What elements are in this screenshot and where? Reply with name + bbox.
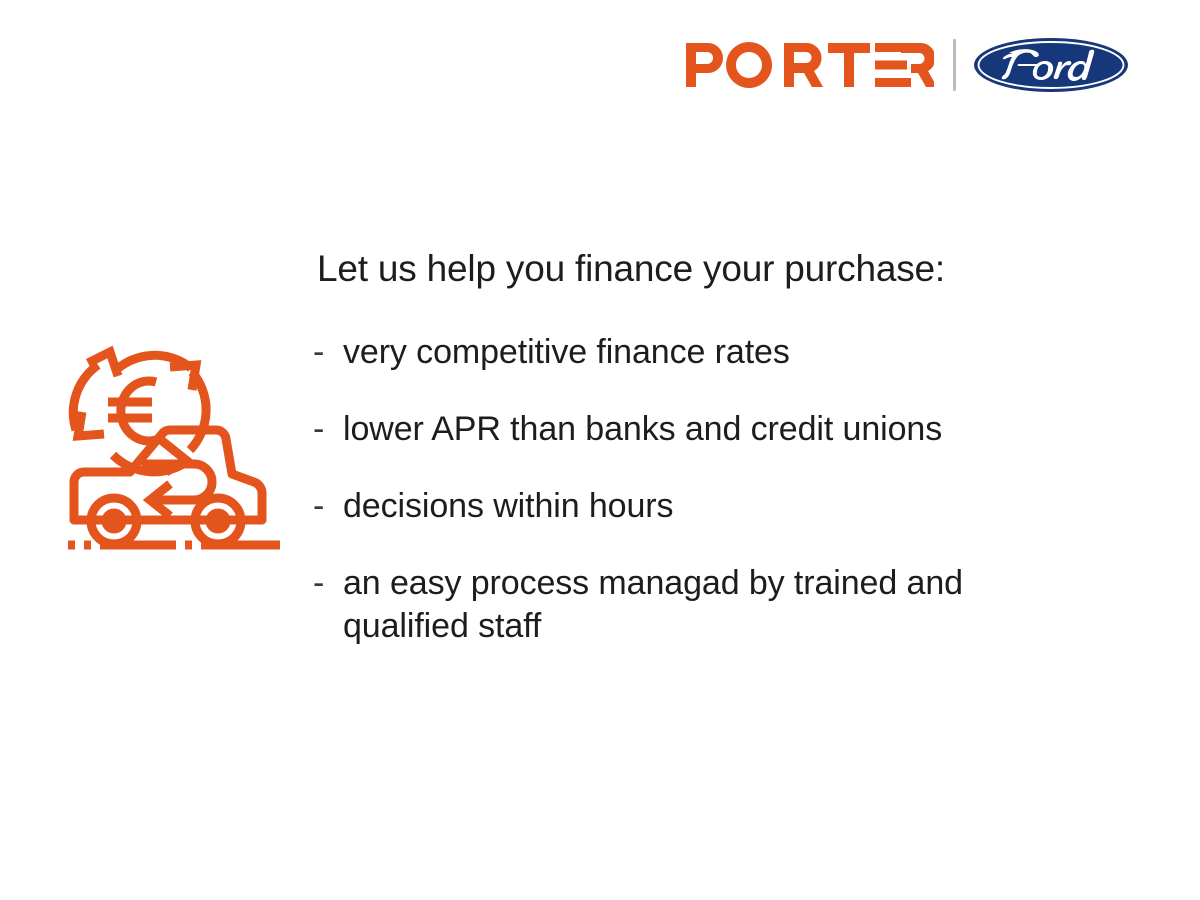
bullet-dash-marker: - xyxy=(313,331,343,373)
logo-divider xyxy=(953,39,956,91)
slide-canvas: Let us help you finance your purchase: -… xyxy=(0,0,1200,900)
benefits-bullet-list: - very competitive finance rates - lower… xyxy=(313,331,1113,647)
list-item: - very competitive finance rates xyxy=(313,331,1113,373)
brand-logo-lockup[interactable] xyxy=(686,34,1129,96)
bullet-text-finance-rates: very competitive finance rates xyxy=(343,331,790,373)
bullet-dash-marker: - xyxy=(313,562,343,604)
bullet-dash-marker: - xyxy=(313,408,343,450)
bullet-dash-marker: - xyxy=(313,485,343,527)
list-item: - an easy process managad by trained and… xyxy=(313,562,1113,646)
ford-logo xyxy=(973,37,1129,93)
bullet-text-easy-process: an easy process managad by trained and q… xyxy=(343,562,1073,646)
bullet-text-lower-apr: lower APR than banks and credit unions xyxy=(343,408,942,450)
list-item: - decisions within hours xyxy=(313,485,1113,527)
porter-wordmark xyxy=(686,42,934,88)
list-item: - lower APR than banks and credit unions xyxy=(313,408,1113,450)
car-euro-refinance-icon xyxy=(58,330,290,562)
bullet-text-decisions-within-hours: decisions within hours xyxy=(343,485,673,527)
lede-heading: Let us help you finance your purchase: xyxy=(317,248,1113,291)
finance-copy-block: Let us help you finance your purchase: -… xyxy=(313,248,1113,647)
